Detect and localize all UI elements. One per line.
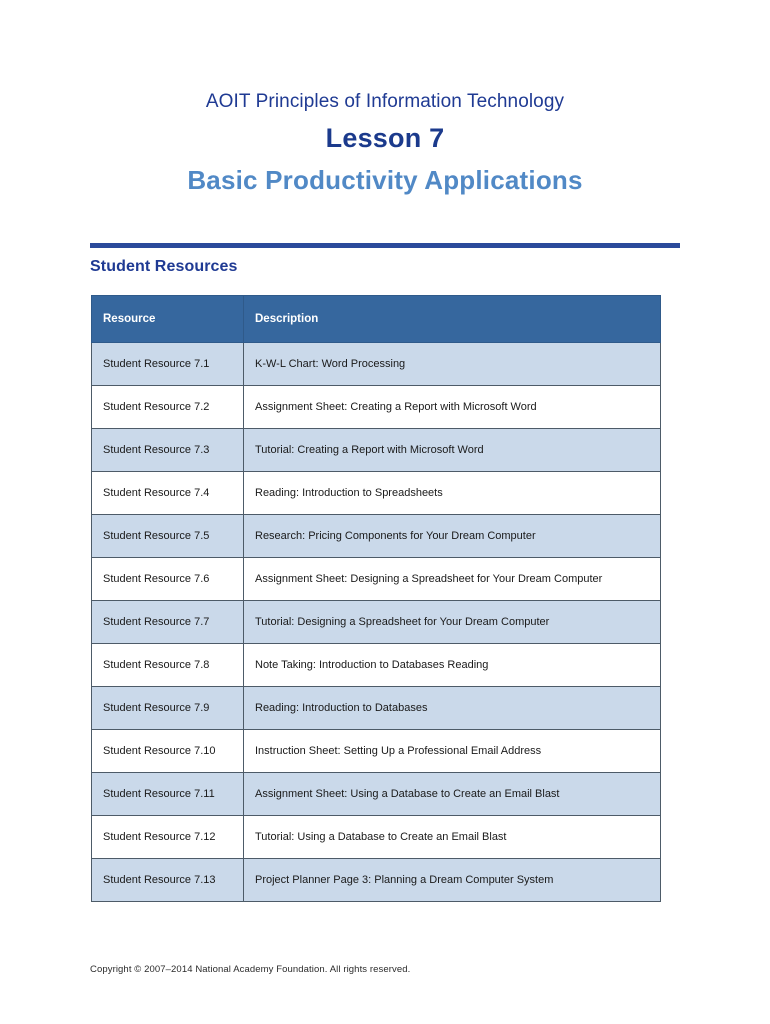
table-header: Resource Description <box>92 296 661 343</box>
cell-resource: Student Resource 7.5 <box>92 515 244 558</box>
cell-description: Assignment Sheet: Using a Database to Cr… <box>244 773 661 816</box>
table-header-row: Resource Description <box>92 296 661 343</box>
cell-resource: Student Resource 7.7 <box>92 601 244 644</box>
section-divider-rule <box>90 243 680 248</box>
cell-description: Assignment Sheet: Creating a Report with… <box>244 386 661 429</box>
section-heading: Student Resources <box>90 258 238 276</box>
student-resources-table: Resource Description Student Resource 7.… <box>91 295 661 902</box>
lesson-subtitle: Basic Productivity Applications <box>0 161 770 199</box>
table-row: Student Resource 7.12Tutorial: Using a D… <box>92 816 661 859</box>
table-row: Student Resource 7.9Reading: Introductio… <box>92 687 661 730</box>
cell-description: Instruction Sheet: Setting Up a Professi… <box>244 730 661 773</box>
cell-resource: Student Resource 7.10 <box>92 730 244 773</box>
cell-resource: Student Resource 7.8 <box>92 644 244 687</box>
column-header-description: Description <box>244 296 661 343</box>
cell-resource: Student Resource 7.6 <box>92 558 244 601</box>
cell-description: Reading: Introduction to Databases <box>244 687 661 730</box>
cell-description: Note Taking: Introduction to Databases R… <box>244 644 661 687</box>
cell-description: Reading: Introduction to Spreadsheets <box>244 472 661 515</box>
cell-resource: Student Resource 7.4 <box>92 472 244 515</box>
cell-resource: Student Resource 7.11 <box>92 773 244 816</box>
cell-resource: Student Resource 7.2 <box>92 386 244 429</box>
table-row: Student Resource 7.4Reading: Introductio… <box>92 472 661 515</box>
cell-resource: Student Resource 7.1 <box>92 343 244 386</box>
cell-resource: Student Resource 7.3 <box>92 429 244 472</box>
table-row: Student Resource 7.10Instruction Sheet: … <box>92 730 661 773</box>
document-page: AOIT Principles of Information Technolog… <box>0 0 770 1024</box>
cell-description: Research: Pricing Components for Your Dr… <box>244 515 661 558</box>
title-block: AOIT Principles of Information Technolog… <box>0 88 770 199</box>
table-row: Student Resource 7.8Note Taking: Introdu… <box>92 644 661 687</box>
table-row: Student Resource 7.6Assignment Sheet: De… <box>92 558 661 601</box>
cell-description: Tutorial: Designing a Spreadsheet for Yo… <box>244 601 661 644</box>
table-row: Student Resource 7.7Tutorial: Designing … <box>92 601 661 644</box>
cell-description: Tutorial: Using a Database to Create an … <box>244 816 661 859</box>
lesson-title: Lesson 7 <box>0 118 770 158</box>
footer-copyright: Copyright © 2007–2014 National Academy F… <box>90 964 410 975</box>
cell-resource: Student Resource 7.13 <box>92 859 244 902</box>
table-row: Student Resource 7.5Research: Pricing Co… <box>92 515 661 558</box>
cell-description: Tutorial: Creating a Report with Microso… <box>244 429 661 472</box>
course-title: AOIT Principles of Information Technolog… <box>0 88 770 116</box>
cell-description: Assignment Sheet: Designing a Spreadshee… <box>244 558 661 601</box>
table-row: Student Resource 7.2Assignment Sheet: Cr… <box>92 386 661 429</box>
table-row: Student Resource 7.13Project Planner Pag… <box>92 859 661 902</box>
table-body: Student Resource 7.1K-W-L Chart: Word Pr… <box>92 343 661 902</box>
table-row: Student Resource 7.1K-W-L Chart: Word Pr… <box>92 343 661 386</box>
table-row: Student Resource 7.11Assignment Sheet: U… <box>92 773 661 816</box>
table-row: Student Resource 7.3Tutorial: Creating a… <box>92 429 661 472</box>
cell-resource: Student Resource 7.12 <box>92 816 244 859</box>
cell-description: K-W-L Chart: Word Processing <box>244 343 661 386</box>
cell-resource: Student Resource 7.9 <box>92 687 244 730</box>
column-header-resource: Resource <box>92 296 244 343</box>
cell-description: Project Planner Page 3: Planning a Dream… <box>244 859 661 902</box>
